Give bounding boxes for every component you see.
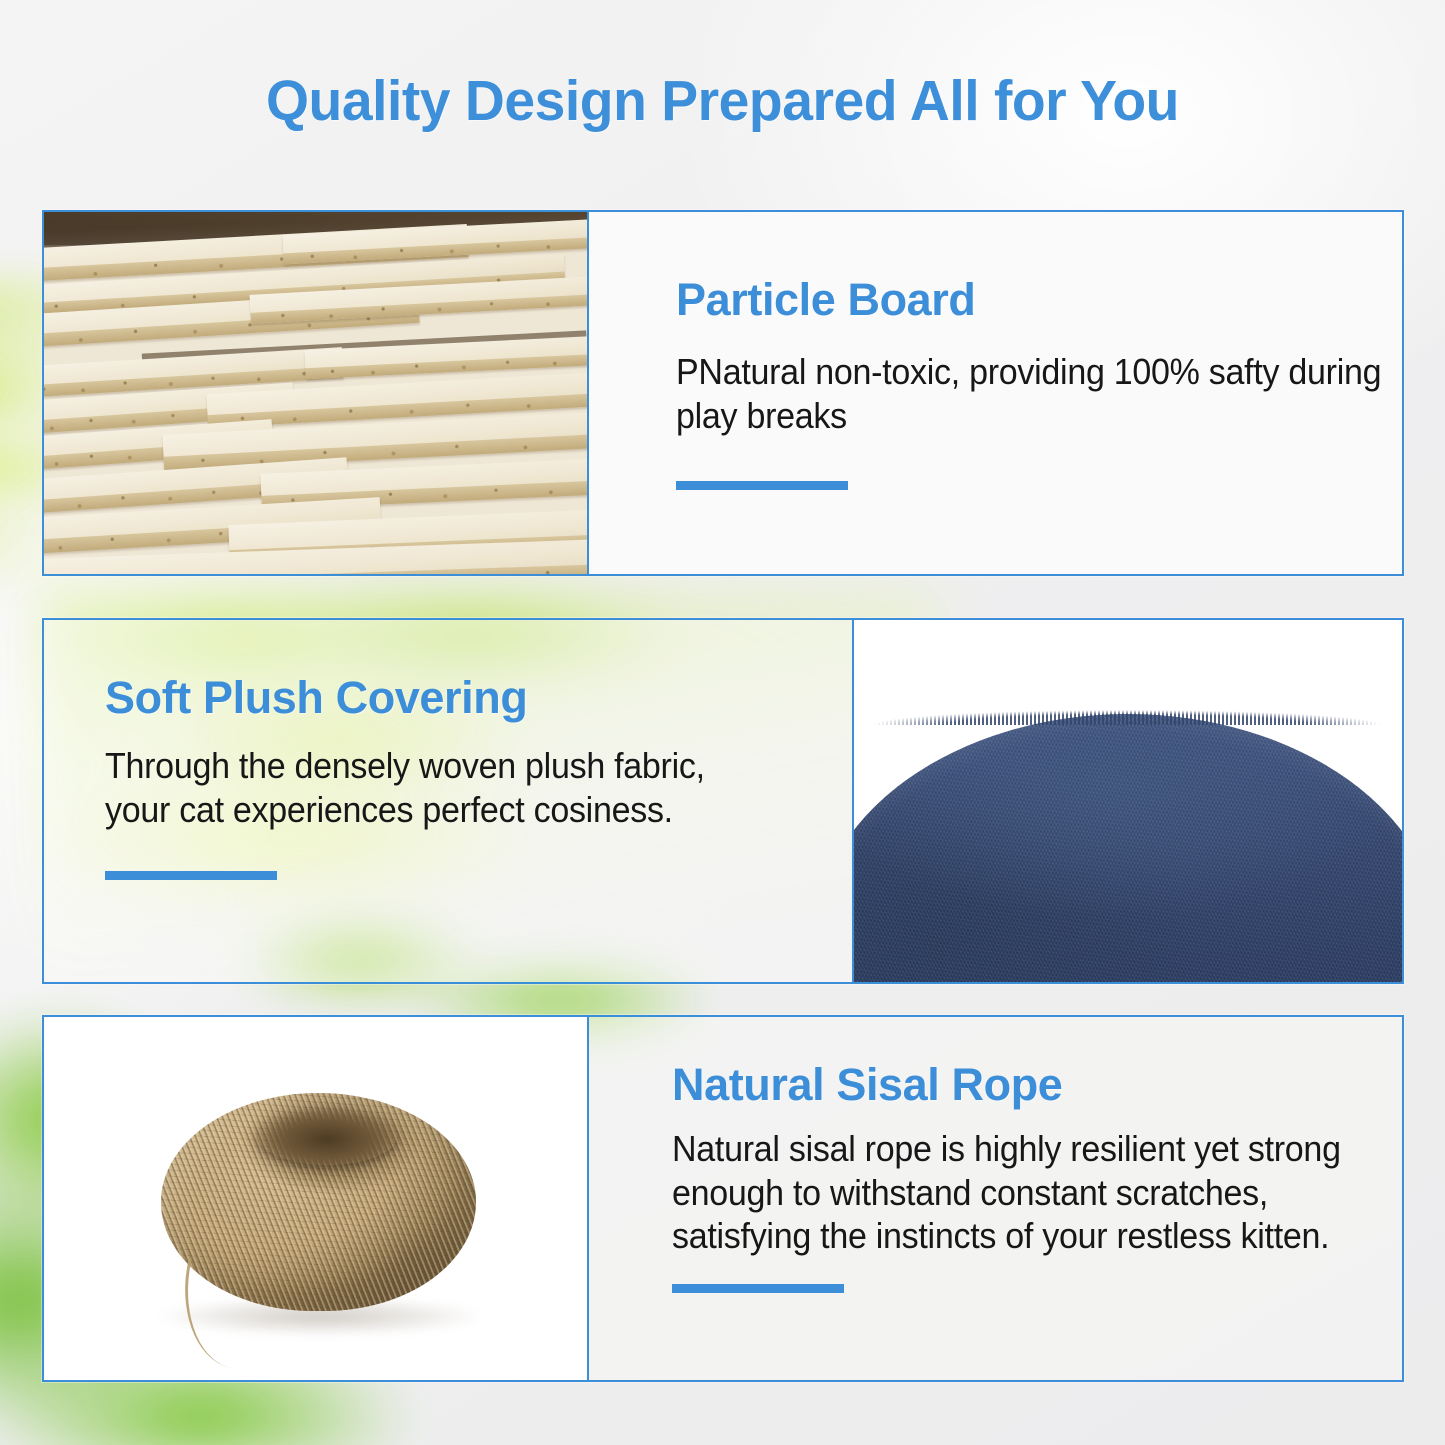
infographic-page: Quality Design Prepared All for You (0, 0, 1445, 1445)
card-divider (852, 620, 854, 982)
feature-heading: Particle Board (676, 274, 1402, 326)
feature-description: PNatural non-toxic, providing 100% safty… (676, 350, 1402, 437)
soft-plush-photo (852, 620, 1402, 982)
particle-board-photo (44, 212, 587, 574)
particle-board-text-panel: Particle Board PNatural non-toxic, provi… (587, 212, 1402, 574)
accent-underline-bar (676, 481, 848, 490)
page-title: Quality Design Prepared All for You (22, 68, 1424, 134)
feature-heading: Natural Sisal Rope (672, 1059, 1402, 1111)
feature-heading: Soft Plush Covering (105, 672, 852, 724)
sisal-rope-image (44, 1017, 587, 1380)
plush-fabric-image (852, 620, 1402, 982)
feature-card-particle-board: Particle Board PNatural non-toxic, provi… (42, 210, 1404, 576)
accent-underline-bar (672, 1284, 844, 1293)
soft-plush-text-panel: Soft Plush Covering Through the densely … (44, 620, 852, 982)
particle-board-image (44, 212, 587, 574)
accent-underline-bar (105, 871, 277, 880)
sisal-rope-photo (44, 1017, 587, 1380)
feature-card-natural-sisal-rope: Natural Sisal Rope Natural sisal rope is… (42, 1015, 1404, 1382)
feature-description: Natural sisal rope is highly resilient y… (672, 1127, 1390, 1258)
sisal-loose-strand (172, 1258, 274, 1372)
plush-dome-shape (852, 714, 1402, 982)
feature-card-soft-plush-covering: Soft Plush Covering Through the densely … (42, 618, 1404, 984)
sisal-rope-text-panel: Natural Sisal Rope Natural sisal rope is… (587, 1017, 1402, 1380)
card-divider (587, 212, 589, 574)
feature-description: Through the densely woven plush fabric, … (105, 744, 767, 831)
card-divider (587, 1017, 589, 1380)
